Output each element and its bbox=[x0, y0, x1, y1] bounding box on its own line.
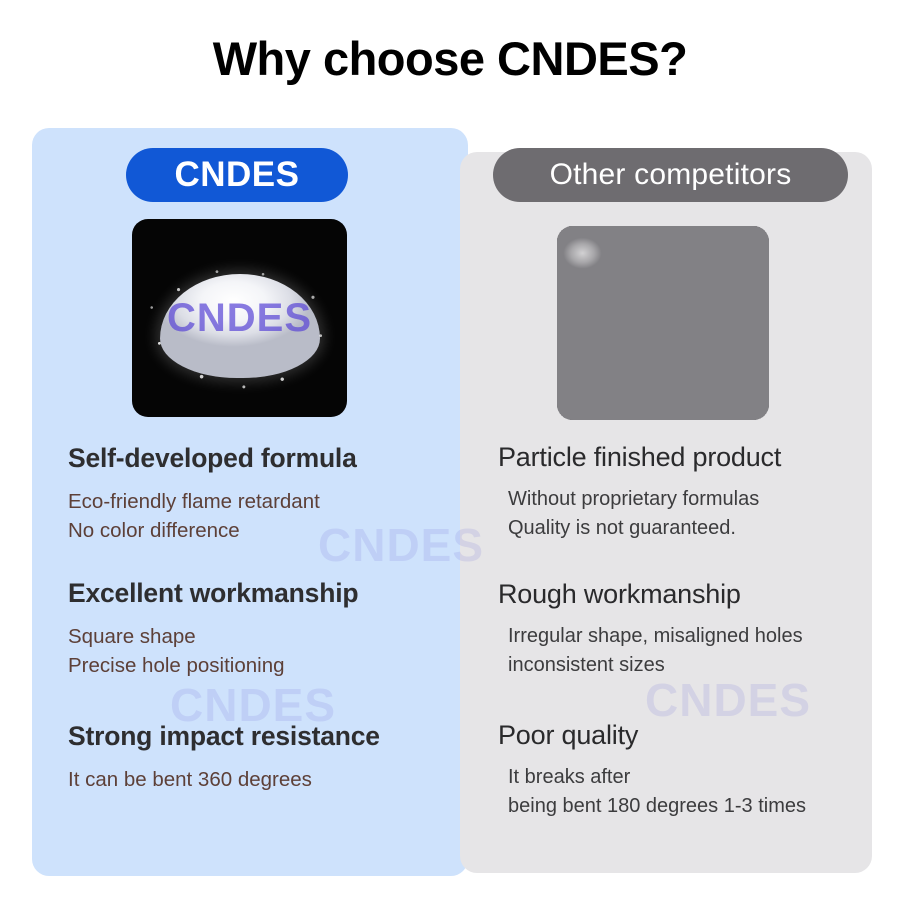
feature-line: No color difference bbox=[68, 516, 357, 545]
feature-line: Eco-friendly flame retardant bbox=[68, 487, 357, 516]
badge-other-competitors-label: Other competitors bbox=[550, 158, 792, 192]
feature-line: Precise hole positioning bbox=[68, 651, 358, 680]
feature-line: Quality is not guaranteed. bbox=[508, 514, 781, 543]
badge-cndes: CNDES bbox=[126, 148, 348, 202]
feature-excellent-workmanship: Excellent workmanship Square shape Preci… bbox=[68, 578, 358, 680]
feature-title: Strong impact resistance bbox=[68, 721, 380, 753]
powder-pile-graphic bbox=[160, 274, 320, 378]
feature-title: Excellent workmanship bbox=[68, 578, 358, 610]
feature-line: It breaks after bbox=[508, 763, 806, 792]
feature-particle-finished-product: Particle finished product Without propri… bbox=[498, 441, 781, 543]
feature-lines: Irregular shape, misaligned holes incons… bbox=[508, 622, 803, 680]
feature-rough-workmanship: Rough workmanship Irregular shape, misal… bbox=[498, 578, 803, 680]
feature-line: Square shape bbox=[68, 622, 358, 651]
pellets-graphic bbox=[557, 226, 769, 420]
feature-poor-quality: Poor quality It breaks after being bent … bbox=[498, 719, 806, 821]
cndes-product-image: CNDES bbox=[132, 219, 347, 417]
feature-title: Self-developed formula bbox=[68, 443, 357, 475]
feature-title: Poor quality bbox=[498, 719, 806, 751]
competitor-product-image bbox=[557, 226, 769, 420]
badge-cndes-label: CNDES bbox=[174, 155, 299, 195]
feature-line: being bent 180 degrees 1-3 times bbox=[508, 792, 806, 821]
feature-line: Irregular shape, misaligned holes bbox=[508, 622, 803, 651]
feature-strong-impact-resistance: Strong impact resistance It can be bent … bbox=[68, 721, 380, 794]
feature-self-developed-formula: Self-developed formula Eco-friendly flam… bbox=[68, 443, 357, 545]
feature-title: Rough workmanship bbox=[498, 578, 803, 610]
feature-lines: It breaks after being bent 180 degrees 1… bbox=[508, 763, 806, 821]
feature-line: It can be bent 360 degrees bbox=[68, 765, 380, 794]
feature-lines: Without proprietary formulas Quality is … bbox=[508, 485, 781, 543]
badge-other-competitors: Other competitors bbox=[493, 148, 848, 202]
feature-title: Particle finished product bbox=[498, 441, 781, 473]
feature-line: Without proprietary formulas bbox=[508, 485, 781, 514]
page-title: Why choose CNDES? bbox=[0, 33, 900, 85]
feature-line: inconsistent sizes bbox=[508, 651, 803, 680]
